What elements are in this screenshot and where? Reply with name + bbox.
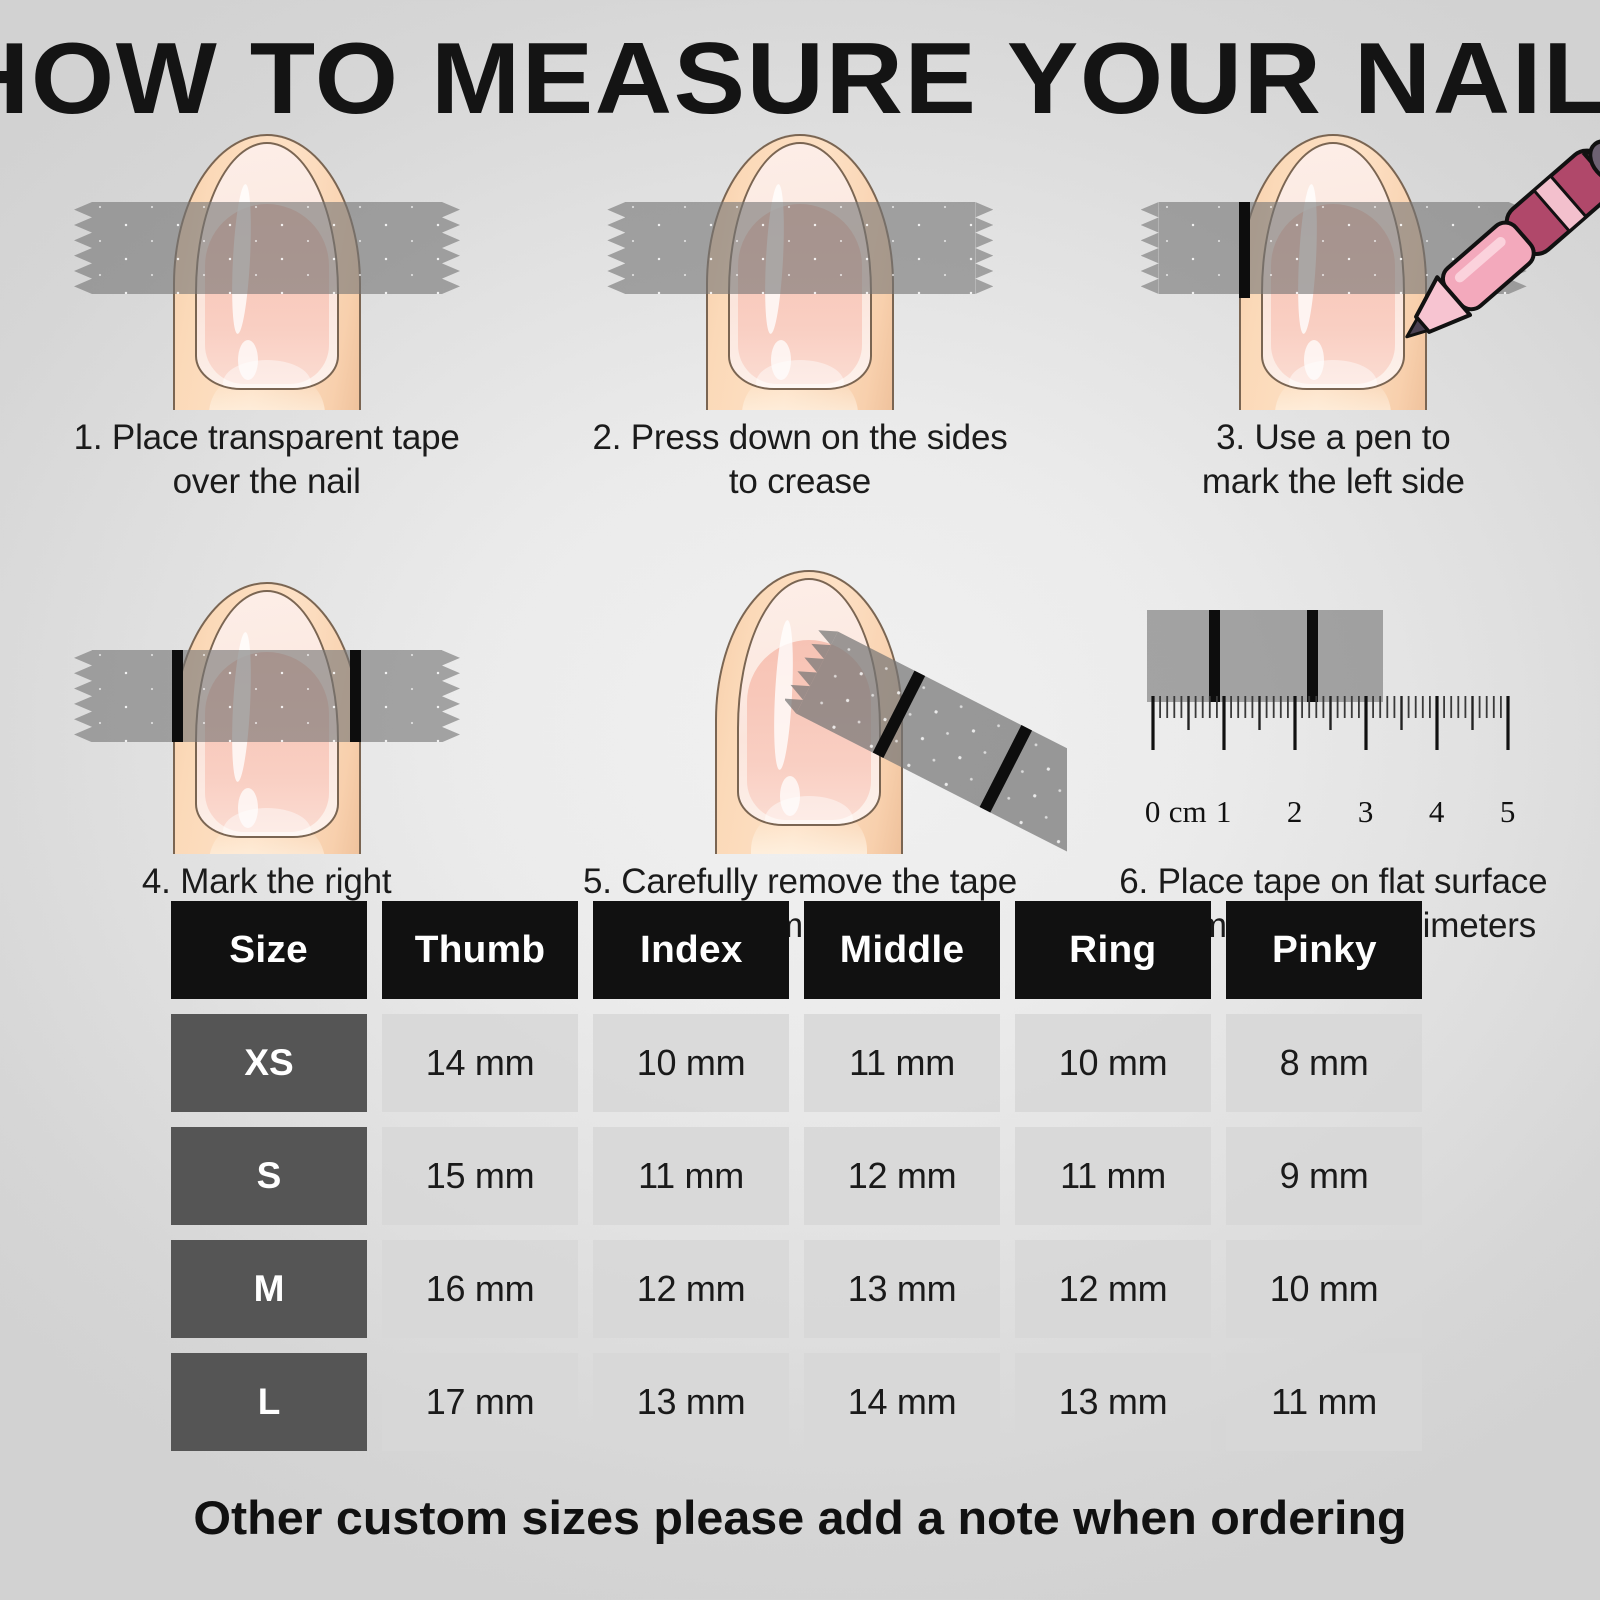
- ruler-unit-label: cm: [1168, 794, 1208, 830]
- cell-thumb: 14 mm: [382, 1014, 578, 1112]
- step-1-illustration: [0, 118, 533, 410]
- tape-right-edge: [975, 202, 993, 294]
- cell-ring: 10 mm: [1015, 1014, 1211, 1112]
- step-6-illustration: 012345cm: [1067, 566, 1600, 854]
- cell-middle: 13 mm: [804, 1240, 1000, 1338]
- cell-ring: 12 mm: [1015, 1240, 1211, 1338]
- steps-grid: 1. Place transparent tape over the nail: [0, 118, 1600, 948]
- step-3: 3. Use a pen to mark the left side: [1067, 118, 1600, 504]
- step-3-caption-line2: mark the left side: [1067, 460, 1600, 504]
- ruler-tick-4: 4: [1417, 794, 1457, 830]
- row-size-label: S: [171, 1127, 367, 1225]
- table-row: M 16 mm 12 mm 13 mm 12 mm 10 mm: [171, 1240, 1437, 1338]
- cell-index: 12 mm: [593, 1240, 789, 1338]
- table-row: XS 14 mm 10 mm 11 mm 10 mm 8 mm: [171, 1014, 1437, 1112]
- step-3-illustration: [1067, 118, 1600, 410]
- tape-texture: [625, 202, 975, 294]
- ruler-labels: 012345cm: [1121, 794, 1541, 830]
- measured-tape: [1147, 610, 1383, 702]
- transparent-tape: [92, 650, 442, 742]
- tape-left-edge: [74, 202, 92, 294]
- cell-middle: 12 mm: [804, 1127, 1000, 1225]
- creased-tape: [625, 202, 975, 294]
- left-pen-mark: [1209, 610, 1220, 702]
- cell-thumb: 15 mm: [382, 1127, 578, 1225]
- column-header-ring-label: Ring: [1069, 929, 1156, 972]
- column-header-size: Size: [171, 901, 367, 999]
- step-6: 012345cm 6. Place tape on flat surface a…: [1067, 566, 1600, 948]
- column-header-size-label: Size: [230, 929, 309, 972]
- row-size-label: L: [171, 1353, 367, 1451]
- table-header-row: Size Thumb Index Middle Ring Pinky: [171, 901, 1437, 999]
- cell-ring: 11 mm: [1015, 1127, 1211, 1225]
- column-header-index-label: Index: [640, 929, 743, 972]
- steps-row-bottom: 4. Mark the right side next: [0, 566, 1600, 948]
- step-2-caption-line2: to crease: [533, 460, 1066, 504]
- step-5-illustration: [533, 566, 1066, 854]
- transparent-tape: [92, 202, 442, 294]
- row-size-label: XS: [171, 1014, 367, 1112]
- ruler-tick-5: 5: [1488, 794, 1528, 830]
- row-size-label: M: [171, 1240, 367, 1338]
- cell-index: 11 mm: [593, 1127, 789, 1225]
- left-pen-mark: [172, 650, 183, 742]
- column-header-pinky: Pinky: [1226, 901, 1422, 999]
- pen-icon: [1367, 118, 1600, 366]
- size-chart-table: Size Thumb Index Middle Ring Pinky XS 14…: [171, 901, 1437, 1466]
- step-2: 2. Press down on the sides to crease: [533, 118, 1066, 504]
- step-1: 1. Place transparent tape over the nail: [0, 118, 533, 504]
- page-title: HOW TO MEASURE YOUR NAILS: [0, 26, 1600, 132]
- cell-ring: 13 mm: [1015, 1353, 1211, 1451]
- cell-index: 10 mm: [593, 1014, 789, 1112]
- tape-on-ruler: 012345cm: [1067, 566, 1600, 854]
- step-4-illustration: [0, 566, 533, 854]
- step-6-caption-line1: 6. Place tape on flat surface: [1067, 860, 1600, 904]
- ruler-tick-3: 3: [1346, 794, 1386, 830]
- column-header-thumb: Thumb: [382, 901, 578, 999]
- table-row: S 15 mm 11 mm 12 mm 11 mm 9 mm: [171, 1127, 1437, 1225]
- left-pen-mark: [1239, 202, 1250, 298]
- tape-right-edge: [442, 202, 460, 294]
- step-4-caption-line1: 4. Mark the right: [0, 860, 533, 904]
- step-1-caption: 1. Place transparent tape over the nail: [0, 410, 533, 504]
- footer-note: Other custom sizes please add a note whe…: [0, 1490, 1600, 1545]
- cell-pinky: 8 mm: [1226, 1014, 1422, 1112]
- step-5: 5. Carefully remove the tape from nail: [533, 566, 1066, 948]
- step-2-caption: 2. Press down on the sides to crease: [533, 410, 1066, 504]
- column-header-ring: Ring: [1015, 901, 1211, 999]
- cell-pinky: 9 mm: [1226, 1127, 1422, 1225]
- tape-right-edge: [442, 650, 460, 742]
- column-header-middle-label: Middle: [840, 929, 965, 972]
- step-3-caption: 3. Use a pen to mark the left side: [1067, 410, 1600, 504]
- tape-texture: [92, 202, 442, 294]
- cell-pinky: 11 mm: [1226, 1353, 1422, 1451]
- ruler-tick-0: 0: [1133, 794, 1173, 830]
- tape-left-edge: [74, 650, 92, 742]
- step-2-caption-line1: 2. Press down on the sides: [533, 416, 1066, 460]
- cell-middle: 14 mm: [804, 1353, 1000, 1451]
- step-2-illustration: [533, 118, 1066, 410]
- step-4: 4. Mark the right side next: [0, 566, 533, 948]
- tape-left-edge: [607, 202, 625, 294]
- cell-thumb: 16 mm: [382, 1240, 578, 1338]
- column-header-middle: Middle: [804, 901, 1000, 999]
- step-3-caption-line1: 3. Use a pen to: [1067, 416, 1600, 460]
- step-5-caption-line1: 5. Carefully remove the tape: [533, 860, 1066, 904]
- cell-middle: 11 mm: [804, 1014, 1000, 1112]
- column-header-thumb-label: Thumb: [415, 929, 546, 972]
- right-pen-mark: [1307, 610, 1318, 702]
- cell-index: 13 mm: [593, 1353, 789, 1451]
- step-1-caption-line2: over the nail: [0, 460, 533, 504]
- steps-row-top: 1. Place transparent tape over the nail: [0, 118, 1600, 504]
- peeling-tape: [785, 630, 1066, 854]
- table-row: L 17 mm 13 mm 14 mm 13 mm 11 mm: [171, 1353, 1437, 1451]
- ruler-tick-2: 2: [1275, 794, 1315, 830]
- step-1-caption-line1: 1. Place transparent tape: [0, 416, 533, 460]
- tape-texture: [92, 650, 442, 742]
- cell-thumb: 17 mm: [382, 1353, 578, 1451]
- column-header-pinky-label: Pinky: [1272, 929, 1377, 972]
- tape-left-edge: [1141, 202, 1159, 294]
- right-pen-mark: [350, 650, 361, 742]
- ruler-tick-1: 1: [1204, 794, 1244, 830]
- column-header-index: Index: [593, 901, 789, 999]
- cell-pinky: 10 mm: [1226, 1240, 1422, 1338]
